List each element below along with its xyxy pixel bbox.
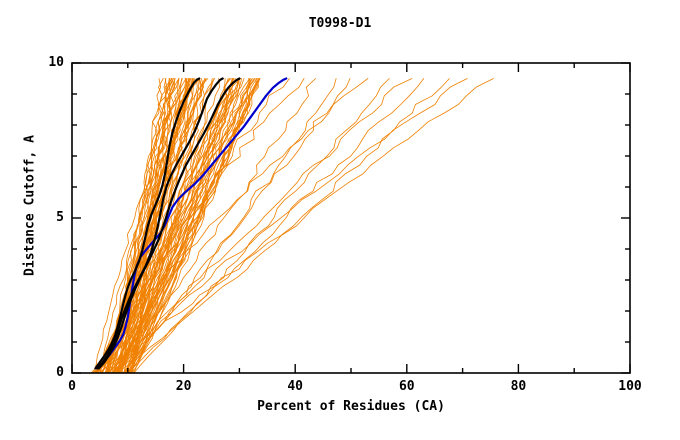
y-tick-label: 10 (6, 55, 64, 70)
x-tick-label: 80 (478, 379, 558, 394)
chart-root: T0998-D1 Distance Cutoff, A Percent of R… (0, 0, 680, 440)
y-tick-label: 0 (6, 365, 64, 380)
ensemble-curve-outlier (102, 79, 304, 374)
y-tick-label: 5 (6, 210, 64, 225)
x-tick-label: 40 (255, 379, 335, 394)
x-tick-label: 60 (367, 379, 447, 394)
x-tick-label: 0 (32, 379, 112, 394)
x-tick-label: 20 (144, 379, 224, 394)
plot-area (0, 0, 680, 440)
ensemble-curves-layer (91, 79, 494, 374)
x-tick-label: 100 (590, 379, 670, 394)
